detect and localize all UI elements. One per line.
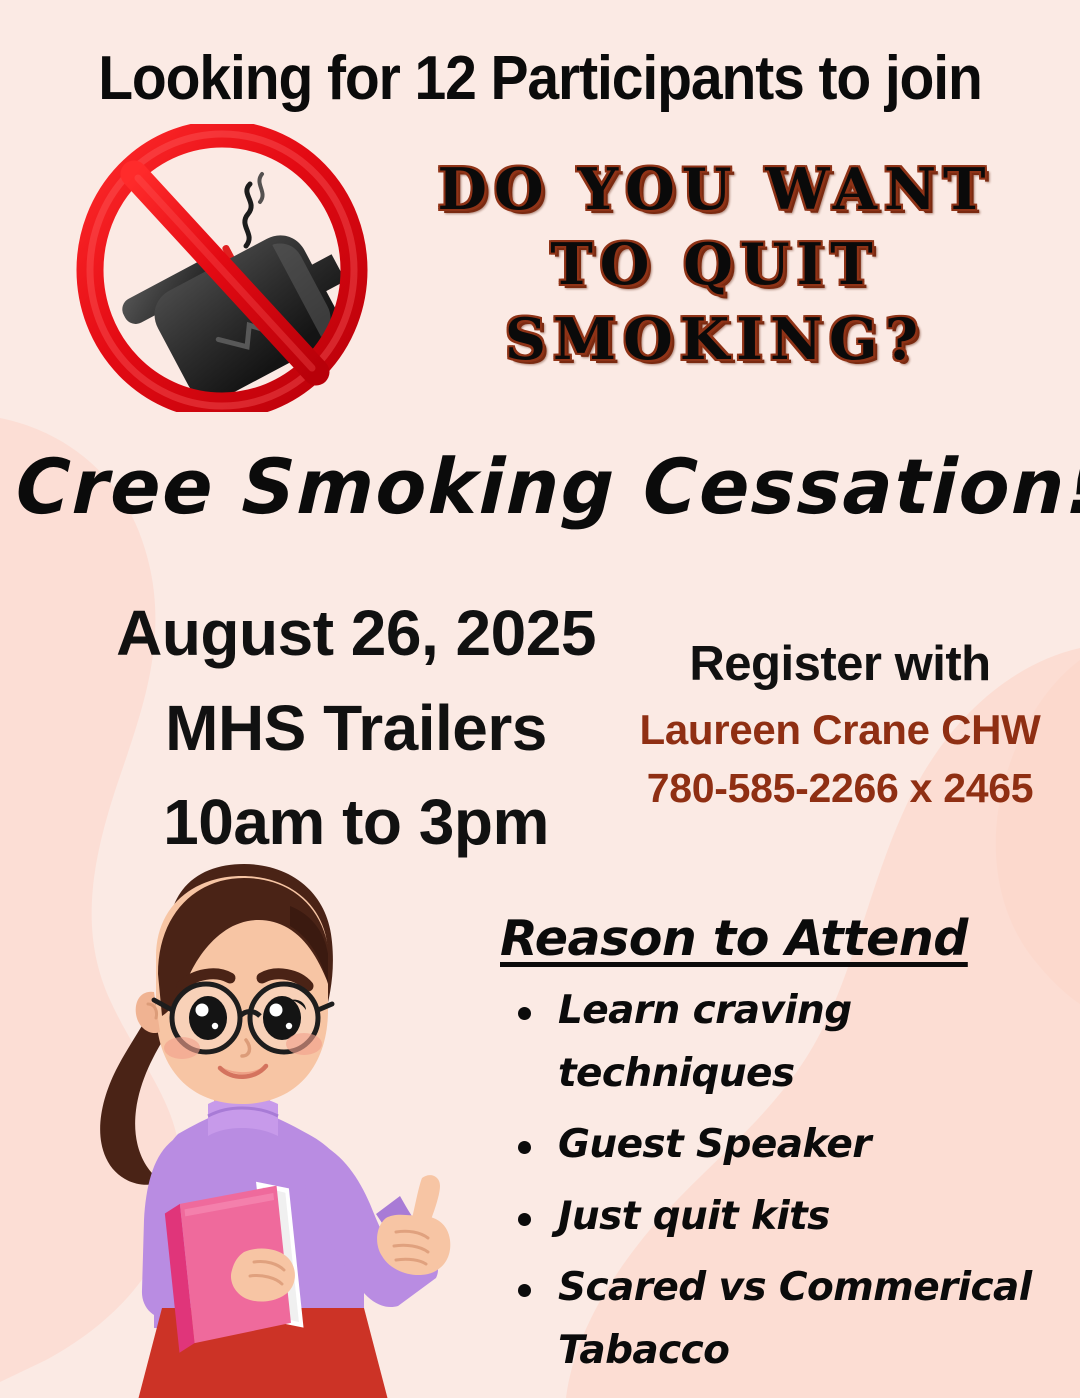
register-heading: Register with [606,636,1074,694]
woman-pointing-illustration [58,858,488,1398]
program-title: Cree Smoking Cessation! [15,442,1066,531]
register-contact-name: Laureen Crane CHW [606,702,1074,757]
slab-heading-line-2: TO QUIT [370,227,1060,302]
list-item: Guest Speaker [496,1113,1056,1176]
page-title: Looking for 12 Participants to join [43,46,1037,111]
register-phone-number[interactable]: 780-585-2266 x 2465 [606,761,1074,815]
event-details: August 26, 2025 MHS Trailers 10am to 3pm [56,586,656,870]
event-time: 10am to 3pm [56,775,656,870]
registration-info: Register with Laureen Crane CHW 780-585-… [606,636,1074,815]
no-smoking-icon [72,124,372,412]
reasons-list: Learn craving techniques Guest Speaker J… [496,979,1056,1382]
list-item: Scared vs Commerical Tabacco [496,1256,1056,1382]
slab-heading-line-1: DO YOU WANT [370,152,1060,227]
reasons-heading: Reason to Attend [500,910,1056,967]
list-item: Learn craving techniques [496,979,1056,1105]
reasons-section: Reason to Attend Learn craving technique… [496,910,1056,1390]
list-item: Just quit kits [496,1185,1056,1248]
event-date: August 26, 2025 [56,586,656,681]
smoking-cessation-poster: Looking for 12 Participants to join [0,0,1080,1398]
slab-heading-line-3: SMOKING? [370,302,1060,377]
event-location: MHS Trailers [56,681,656,776]
slab-heading: DO YOU WANT TO QUIT SMOKING? [370,152,1060,378]
